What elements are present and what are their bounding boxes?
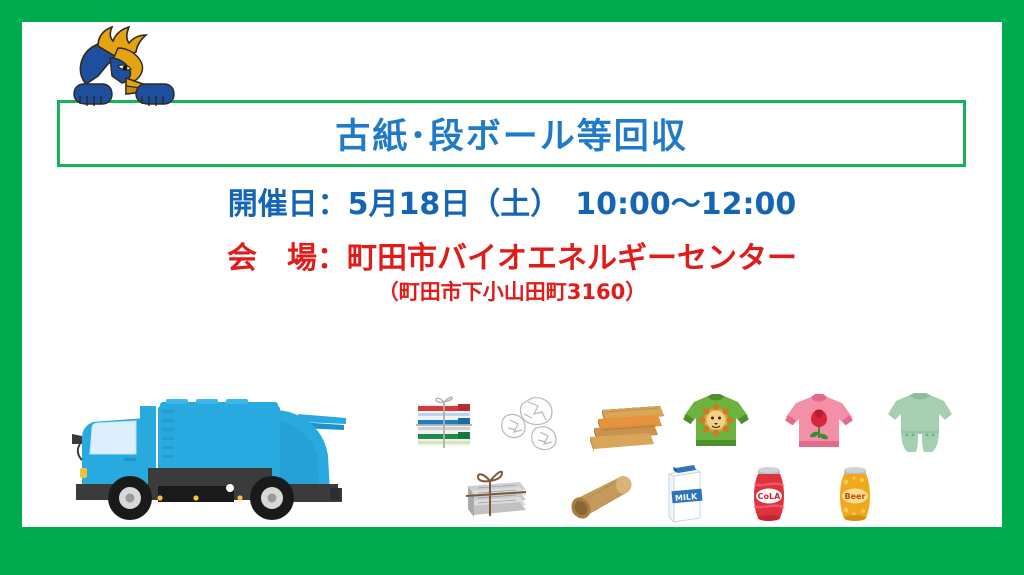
milk-carton-icon: MILK — [666, 462, 708, 529]
garbage-truck-icon — [62, 392, 358, 520]
bundled-magazines-icon — [410, 394, 482, 461]
baby-romper-icon — [886, 390, 954, 461]
cardboard-stack-icon — [588, 404, 668, 459]
recycling-event-poster: 古紙･段ボール等回収 — [0, 0, 1024, 575]
baby-romper-glyph — [886, 390, 954, 456]
beer-can-label: Beer — [845, 492, 866, 501]
paper-tube-glyph — [566, 472, 640, 522]
cola-can-label: CoLA — [758, 492, 781, 501]
lion-sweater-icon — [680, 390, 752, 461]
kingfisher-mascot — [68, 24, 186, 110]
kingfisher-mascot-icon — [68, 24, 186, 110]
event-venue-line: 会 場：町田市バイオエネルギーセンター — [0, 240, 1024, 278]
cola-can-icon: CoLA — [748, 466, 790, 529]
cola-can-glyph: CoLA — [748, 466, 790, 524]
garbage-truck — [62, 392, 358, 520]
bundled-magazines-glyph — [410, 394, 482, 456]
beer-can-glyph: Beer — [834, 466, 876, 524]
milk-carton-glyph: MILK — [666, 462, 708, 524]
newspaper-bundle-glyph — [460, 468, 532, 524]
tulip-sweater-icon — [782, 390, 856, 461]
cardboard-stack-glyph — [588, 404, 668, 454]
crumpled-paper-glyph — [498, 394, 570, 456]
newspaper-bundle-icon — [460, 468, 532, 529]
event-info-block: 開催日：5月18日（土） 10:00～12:00 会 場：町田市バイオエネルギー… — [0, 185, 1024, 305]
crumpled-paper-icon — [498, 394, 570, 461]
lion-sweater-glyph — [680, 390, 752, 456]
recyclable-items-group: MILK CoLA — [380, 386, 980, 526]
tulip-sweater-glyph — [782, 390, 856, 456]
page-title: 古紙･段ボール等回収 — [335, 108, 688, 159]
title-box: 古紙･段ボール等回収 — [57, 100, 966, 167]
event-date-line: 開催日：5月18日（土） 10:00～12:00 — [0, 185, 1024, 225]
event-address-line: （町田市下小山田町3160） — [0, 279, 1024, 305]
beer-can-icon: Beer — [834, 466, 876, 529]
paper-tube-icon — [566, 472, 640, 527]
